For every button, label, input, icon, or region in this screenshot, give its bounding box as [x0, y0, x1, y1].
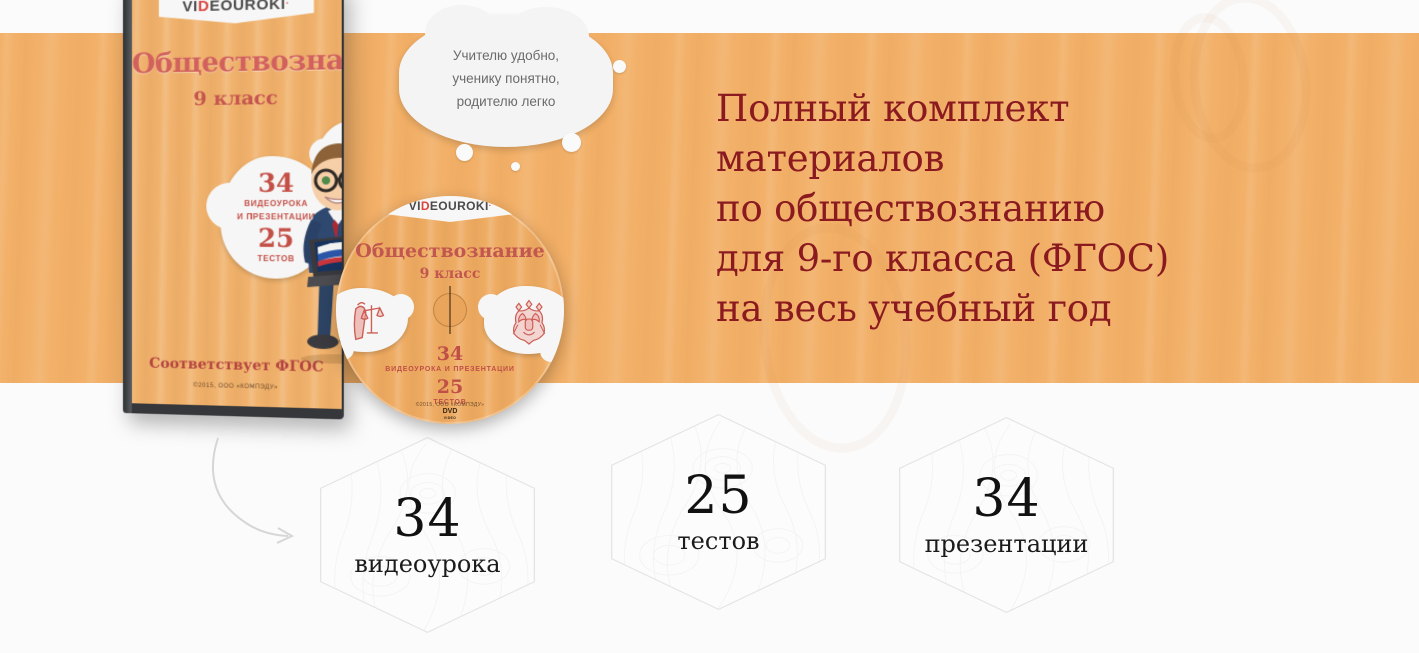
thought-bubble-dot — [511, 162, 520, 171]
dvd-case-product-image: VIDEOUROKI. Обществознание 9 класс — [123, 0, 344, 419]
teacher-with-laptop-icon — [274, 116, 344, 365]
headline-line-2: материалов — [716, 134, 1316, 184]
scales-of-justice-icon — [341, 296, 389, 344]
disc-format-main: DVD — [443, 408, 458, 415]
logo-accent-letter: D — [198, 0, 210, 15]
headline-line-4: для 9-го класса (ФГОС) — [716, 234, 1316, 284]
hexagon-content: 25 тестов — [612, 415, 824, 608]
videouroki-logo: VIDEOUROKI. — [158, 0, 314, 25]
headline-line-5: на весь учебный год — [716, 284, 1316, 334]
dvd-disc-product-image: VIDEOUROKI. Обществознание 9 класс — [336, 196, 564, 424]
logo-part-post: EOUROKI — [210, 0, 286, 15]
disc-tests-count: 25 — [336, 377, 564, 397]
disc-logo-dot: . — [489, 199, 492, 222]
russian-coat-of-arms-icon — [503, 295, 555, 345]
thought-bubble-text: Учителю удобно, ученику понятно, родител… — [452, 44, 559, 113]
logo-dot: . — [286, 0, 289, 6]
stat-label: видеоурока — [354, 551, 500, 577]
stat-label: тестов — [677, 528, 759, 554]
thought-bubble: Учителю удобно, ученику понятно, родител… — [399, 15, 613, 147]
logo-part-pre: VI — [182, 0, 198, 16]
disc-video-label: ВИДЕОУРОКА И ПРЕЗЕНТАЦИИ — [336, 364, 564, 375]
stat-hexagon-tests: 25 тестов — [611, 414, 826, 610]
page-headline: Полный комплект материалов по обществозн… — [716, 84, 1316, 334]
thought-bubble-dot — [456, 144, 473, 161]
case-grade-label: 9 класс — [132, 86, 342, 111]
disc-center-hole — [433, 293, 467, 327]
hexagon-fill: 25 тестов — [612, 415, 824, 608]
dvd-case-front-cover: VIDEOUROKI. Обществознание 9 класс — [132, 0, 344, 413]
disc-format-sub: VIDEO — [443, 415, 458, 421]
disc-video-count: 34 — [336, 344, 564, 364]
thought-line-1: Учителю удобно, — [452, 44, 559, 67]
thought-bubble-dot — [562, 133, 581, 152]
headline-line-3: по обществознанию — [716, 184, 1316, 234]
case-copyright: ©2015, ООО «КОМПЭДУ» — [132, 381, 342, 392]
thought-line-3: родителю легко — [452, 90, 559, 113]
videouroki-logo-disc: VIDEOUROKI. — [387, 196, 513, 222]
headline-line-1: Полный комплект — [716, 84, 1316, 134]
stat-number: 34 — [393, 493, 461, 545]
disc-justice-badge — [336, 288, 408, 352]
disc-logo-pre: VI — [409, 199, 421, 222]
thought-bubble-dot — [613, 60, 626, 73]
disc-grade-label: 9 класс — [336, 266, 564, 282]
disc-logo-accent: D — [421, 199, 430, 222]
hexagon-fill: 34 презентации — [900, 418, 1112, 611]
stat-number: 25 — [684, 470, 752, 522]
stat-number: 34 — [972, 473, 1040, 525]
stat-hexagon-presentations: 34 презентации — [899, 417, 1114, 613]
disc-statistics: 34 ВИДЕОУРОКА И ПРЕЗЕНТАЦИИ 25 ТЕСТОВ — [336, 344, 564, 408]
disc-logo-post: EOUROKI — [430, 199, 489, 222]
case-subject-title: Обществознание — [132, 44, 342, 79]
stat-label: презентации — [925, 531, 1089, 557]
curved-hint-arrow-icon — [180, 400, 360, 550]
hexagon-content: 34 презентации — [900, 418, 1112, 611]
disc-format-label: DVD VIDEO — [443, 409, 458, 421]
disc-subject-title: Обществознание — [336, 240, 564, 262]
thought-line-2: ученику понятно, — [452, 67, 559, 90]
